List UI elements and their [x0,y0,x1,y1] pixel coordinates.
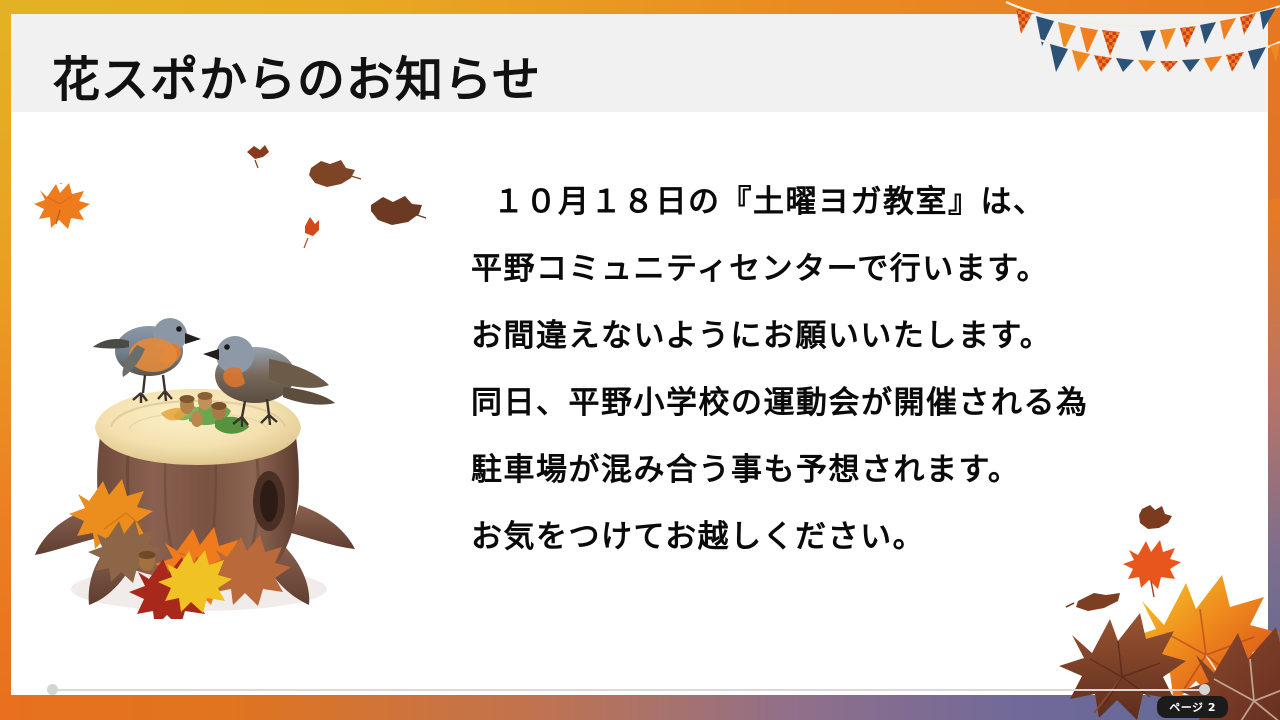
slide-progress-track[interactable] [56,689,1204,691]
body-line-6: お気をつけてお越しください。 [471,504,1111,571]
left-accent-stripe [0,0,11,712]
body-line-5: 駐車場が混み合う事も予想されます。 [471,437,1111,504]
body-line-4: 同日、平野小学校の運動会が開催される為 [471,370,1111,437]
body-line-3: お間違えないようにお願いいたします。 [471,303,1111,370]
page-number-badge: ページ 2 [1157,696,1228,718]
body-line-1: １０月１８日の『土曜ヨガ教室』は、 [471,169,1111,236]
bunting-flags-icon [990,0,1280,72]
slide-progress-knob-left[interactable] [47,684,58,695]
falling-autumn-leaves [11,124,481,304]
tree-stump-with-birds [29,289,369,619]
body-line-2: 平野コミュニティセンターで行います。 [471,236,1111,303]
corner-maple-leaves [1030,505,1280,720]
slide-body-text: １０月１８日の『土曜ヨガ教室』は、 平野コミュニティセンターで行います。 お間違… [471,169,1111,571]
page-title: 花スポからのお知らせ [52,40,541,110]
slide-viewer: １０月１８日の『土曜ヨガ教室』は、 平野コミュニティセンターで行います。 お間違… [0,0,1280,720]
slide-progress-knob-right[interactable] [1199,684,1210,695]
